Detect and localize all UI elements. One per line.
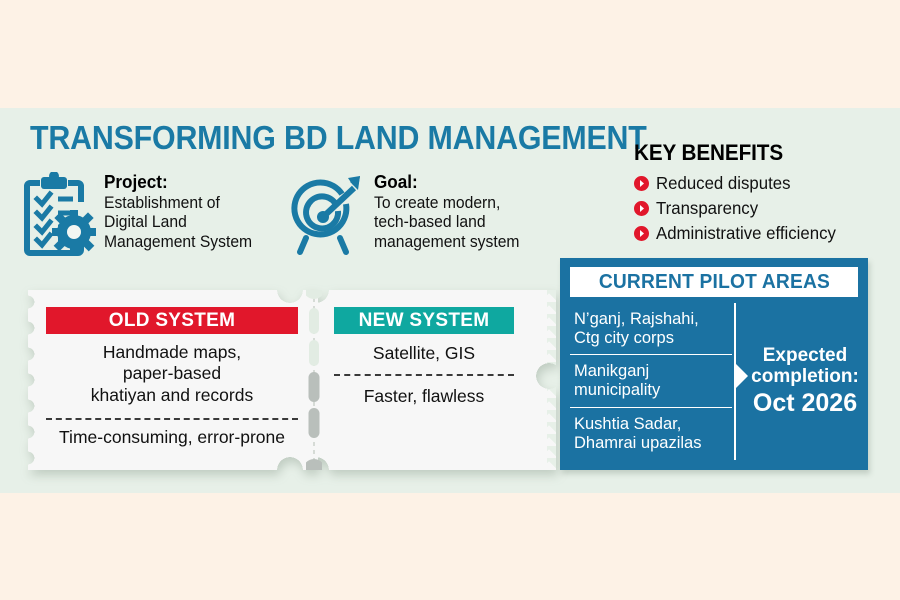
- old-system-main-text: Handmade maps, paper-based khatiyan and …: [46, 342, 298, 406]
- project-block: Project: Establishment of Digital Land M…: [22, 172, 260, 263]
- goal-line-1: To create modern,: [374, 194, 519, 214]
- background-band-top: [0, 0, 900, 108]
- pilot-area-text: Manikganj municipality: [574, 362, 660, 400]
- current-pilot-areas-panel: CURRENT PILOT AREAS N’ganj, Rajshahi, Ct…: [560, 258, 868, 470]
- old-main-line-3: khatiyan and records: [46, 385, 298, 406]
- expected-completion-date: Oct 2026: [753, 389, 857, 418]
- expected-line-2: completion:: [751, 366, 859, 387]
- goal-line-3: management system: [374, 233, 519, 253]
- expected-completion-block: Expected completion: Oct 2026: [750, 303, 860, 460]
- goal-line-2: tech-based land: [374, 213, 519, 233]
- project-line-1: Establishment of: [104, 194, 252, 214]
- pilot-area-row: Kushtia Sadar, Dhamrai upazilas: [570, 408, 732, 460]
- goal-text: Goal: To create modern, tech-based land …: [374, 172, 519, 253]
- pilot-area-2-line-2: municipality: [574, 381, 660, 400]
- chevron-right-circle-icon: [634, 176, 649, 191]
- old-system-header: OLD SYSTEM: [46, 307, 298, 334]
- new-system-main-text: Satellite, GIS: [334, 343, 514, 364]
- page-title: TRANSFORMING BD LAND MANAGEMENT: [30, 119, 647, 157]
- old-main-line-2: paper-based: [46, 363, 298, 384]
- background-band-bottom: [0, 493, 900, 600]
- key-benefit-label: Administrative efficiency: [656, 223, 836, 244]
- project-line-2: Digital Land: [104, 213, 252, 233]
- new-system-ticket: NEW SYSTEM Satellite, GIS Faster, flawle…: [316, 290, 556, 470]
- system-comparison-tickets: OLD SYSTEM Handmade maps, paper-based kh…: [28, 290, 556, 470]
- key-benefit-label: Reduced disputes: [656, 173, 791, 194]
- key-benefit-label: Transparency: [656, 198, 758, 219]
- pilot-area-text: Kushtia Sadar, Dhamrai upazilas: [574, 415, 701, 453]
- expected-completion-label: Expected completion:: [751, 345, 859, 388]
- pilot-area-row: Manikganj municipality: [570, 355, 732, 407]
- pilot-area-1-line-1: N’ganj, Rajshahi,: [574, 310, 699, 329]
- target-arrow-icon: [290, 172, 366, 263]
- new-divider: [334, 374, 514, 376]
- pilot-areas-list: N’ganj, Rajshahi, Ctg city corps Manikga…: [570, 303, 732, 460]
- new-system-sub-text: Faster, flawless: [334, 386, 514, 407]
- key-benefits-title: KEY BENEFITS: [634, 140, 831, 166]
- new-system-header: NEW SYSTEM: [334, 307, 514, 334]
- ticket-zigzag-edge: [547, 290, 556, 470]
- new-system-body: Satellite, GIS Faster, flawless: [334, 343, 514, 407]
- clipboard-gear-icon: [22, 172, 96, 263]
- old-system-ticket: OLD SYSTEM Handmade maps, paper-based kh…: [28, 290, 318, 470]
- pilot-areas-header: CURRENT PILOT AREAS: [570, 267, 858, 297]
- infographic-canvas: TRANSFORMING BD LAND MANAGEMENT: [0, 0, 900, 600]
- goal-lead: Goal:: [374, 172, 519, 194]
- project-lead: Project:: [104, 172, 252, 194]
- gear-icon: [52, 210, 96, 254]
- pilot-areas-title: CURRENT PILOT AREAS: [598, 271, 829, 294]
- chevron-right-icon: [734, 362, 748, 390]
- old-divider: [46, 418, 298, 420]
- key-benefits-section: KEY BENEFITS Reduced disputes Transparen…: [634, 140, 843, 246]
- pilot-area-text: N’ganj, Rajshahi, Ctg city corps: [574, 310, 699, 348]
- pilot-area-3-line-2: Dhamrai upazilas: [574, 434, 701, 453]
- project-text: Project: Establishment of Digital Land M…: [104, 172, 252, 253]
- old-system-body: Handmade maps, paper-based khatiyan and …: [46, 342, 298, 448]
- pilot-area-2-line-1: Manikganj: [574, 362, 660, 381]
- project-line-3: Management System: [104, 233, 252, 253]
- pilot-area-1-line-2: Ctg city corps: [574, 329, 699, 348]
- expected-line-1: Expected: [751, 345, 859, 366]
- key-benefit-item: Transparency: [634, 196, 843, 220]
- old-main-line-1: Handmade maps,: [46, 342, 298, 363]
- goal-block: Goal: To create modern, tech-based land …: [290, 172, 527, 263]
- pilot-area-3-line-1: Kushtia Sadar,: [574, 415, 701, 434]
- key-benefit-item: Reduced disputes: [634, 171, 843, 195]
- chevron-right-circle-icon: [634, 201, 649, 216]
- new-main-line-1: Satellite, GIS: [334, 343, 514, 364]
- pilot-area-row: N’ganj, Rajshahi, Ctg city corps: [570, 303, 732, 355]
- key-benefit-item: Administrative efficiency: [634, 221, 843, 245]
- chevron-right-circle-icon: [634, 226, 649, 241]
- old-system-sub-text: Time-consuming, error-prone: [46, 427, 298, 448]
